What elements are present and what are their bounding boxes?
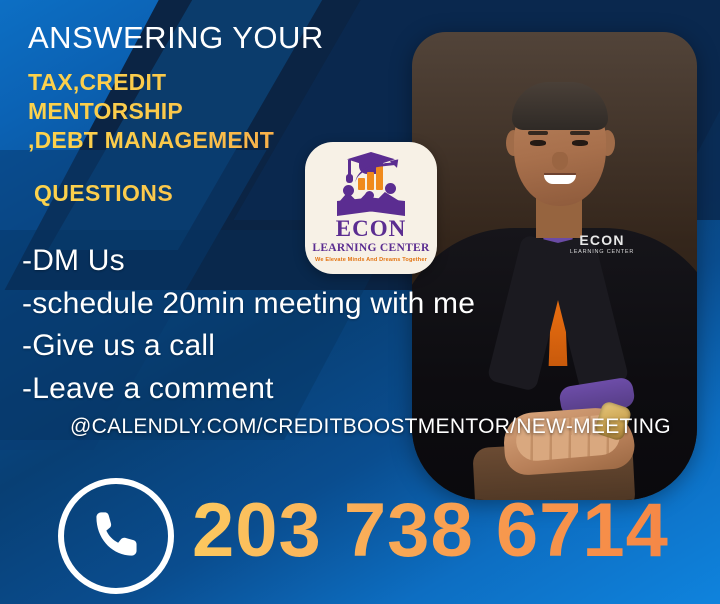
cta-bullet-call: -Give us a call (22, 325, 662, 368)
logo-tagline: We Elevate Minds And Dreams Together (315, 257, 427, 263)
logo-name: ECON (336, 217, 406, 240)
headline-primary: ANSWERING YOUR (28, 22, 428, 55)
cta-bullet-comment: -Leave a comment (22, 368, 662, 411)
photo-eye-right (572, 140, 588, 146)
photo-hair (512, 82, 608, 130)
calendly-link[interactable]: @CALENDLY.COM/CREDITBOOSTMENTOR/NEW-MEET… (70, 415, 671, 439)
photo-eyebrow-left (528, 131, 548, 135)
cta-bullet-schedule: -schedule 20min meeting with me (22, 283, 662, 326)
graduation-tassel-icon (348, 160, 351, 176)
logo-subtitle: LEARNING CENTER (312, 242, 429, 254)
photo-eye-left (530, 140, 546, 146)
phone-number[interactable]: 203 738 6714 (192, 493, 669, 579)
photo-smile (544, 175, 576, 184)
econ-learning-center-logo: ECON LEARNING CENTER We Elevate Minds An… (305, 142, 437, 274)
phone-contact-row: 203 738 6714 (58, 478, 669, 594)
photo-eyebrow-right (570, 131, 590, 135)
phone-icon (58, 478, 174, 594)
photo-nose (552, 152, 568, 170)
person-head-left-icon (343, 185, 354, 196)
logo-graphic (321, 150, 421, 216)
promotional-flyer: ECON LEARNING CENTER ANSWERING YOUR TAX,… (0, 0, 720, 604)
growth-arrow-head-icon (390, 156, 402, 168)
person-head-right-icon (385, 183, 396, 194)
